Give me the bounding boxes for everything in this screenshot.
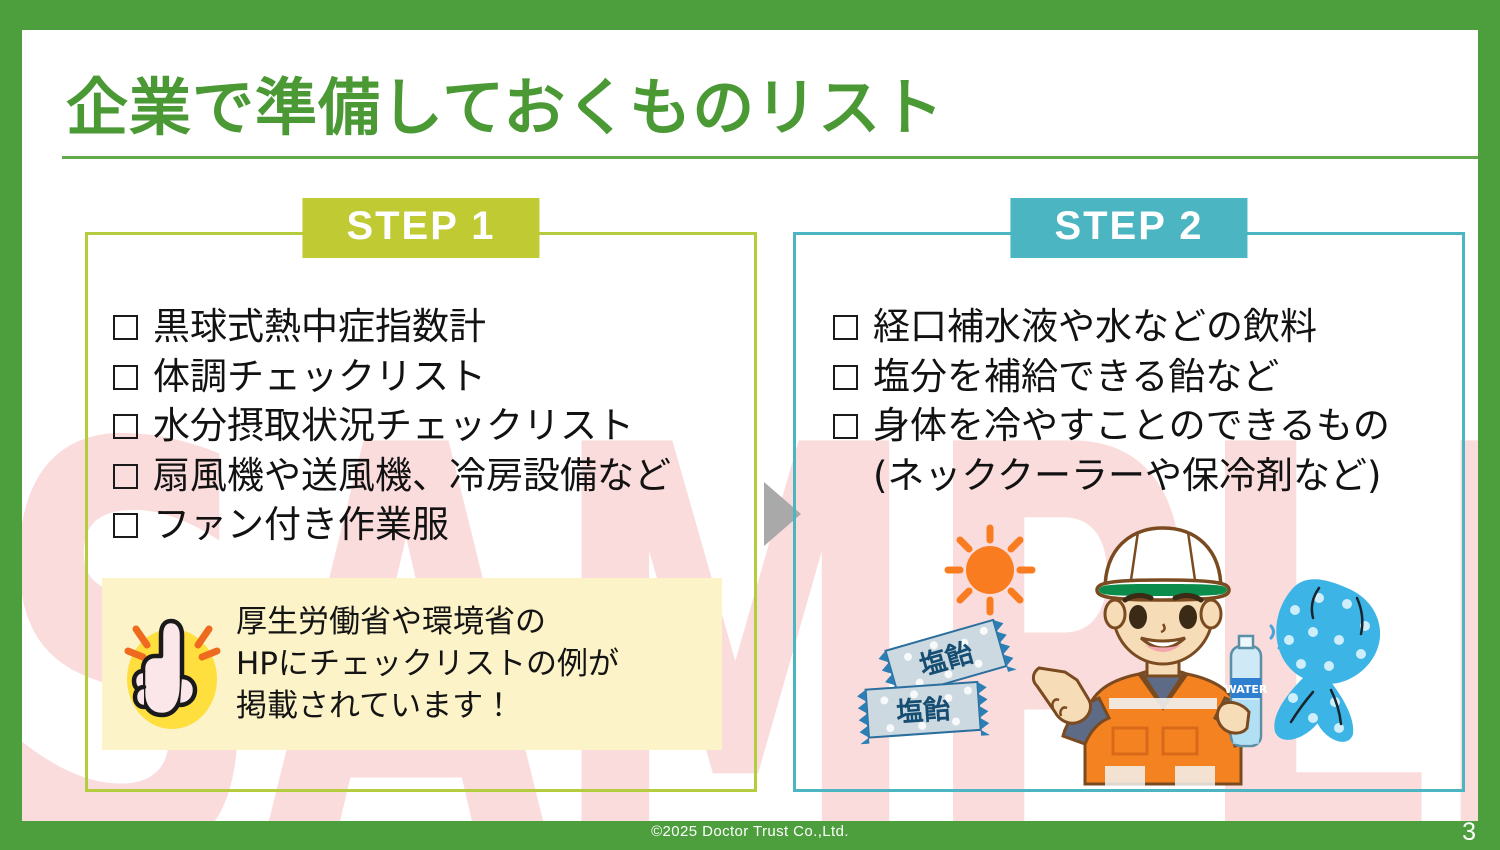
worker-illustration: WATER <box>1033 528 1281 786</box>
list-item[interactable]: 経口補水液や水などの飲料 <box>833 304 1455 351</box>
page-number: 3 <box>1462 818 1476 847</box>
checkbox-icon[interactable] <box>113 414 138 439</box>
slide-root: SAMPLE 企業で準備しておくものリスト STEP 1 黒球式熱中症指数計 体… <box>0 0 1500 850</box>
list-item-label: 黒球式熱中症指数計 <box>153 304 486 351</box>
list-item-label: 水分摂取状況チェックリスト <box>153 403 634 450</box>
list-item[interactable]: 身体を冷やすことのできるもの <box>833 403 1455 450</box>
salt-candy-icon: 塩飴 塩 <box>857 617 1017 744</box>
pointing-hand-icon <box>116 589 228 739</box>
step2-badge: STEP 2 <box>1010 198 1247 258</box>
list-item[interactable]: 塩分を補給できる飴など <box>833 354 1455 401</box>
list-item-label: 経口補水液や水などの飲料 <box>873 304 1317 351</box>
step2-illustration: 塩飴 塩 <box>853 522 1453 792</box>
step2-panel: STEP 2 経口補水液や水などの飲料 塩分を補給できる飴など 身体を冷やすこと… <box>793 232 1465 792</box>
step2-checklist: 経口補水液や水などの飲料 塩分を補給できる飴など 身体を冷やすことのできるもの … <box>833 304 1455 499</box>
checkbox-icon[interactable] <box>113 315 138 340</box>
checkbox-icon[interactable] <box>113 464 138 489</box>
list-item-label: 体調チェックリスト <box>153 354 486 401</box>
checkbox-icon[interactable] <box>833 414 858 439</box>
slide-content-area: SAMPLE 企業で準備しておくものリスト STEP 1 黒球式熱中症指数計 体… <box>22 30 1478 821</box>
step1-panel: STEP 1 黒球式熱中症指数計 体調チェックリスト 水分摂取状況チェックリスト… <box>85 232 757 792</box>
list-item-label: 塩分を補給できる飴など <box>873 354 1279 401</box>
svg-text:WATER: WATER <box>1225 683 1268 696</box>
step1-checklist: 黒球式熱中症指数計 体調チェックリスト 水分摂取状況チェックリスト 扇風機や送風… <box>113 304 747 552</box>
list-item-subnote: (ネッククーラーや保冷剤など) <box>873 453 1455 500</box>
checkbox-icon[interactable] <box>833 365 858 390</box>
svg-text:塩飴: 塩飴 <box>895 693 951 729</box>
list-item[interactable]: 黒球式熱中症指数計 <box>113 304 747 351</box>
footer-copyright: ©2025 Doctor Trust Co.,Ltd. <box>0 823 1500 840</box>
list-item-label: 扇風機や送風機、冷房設備など <box>153 453 671 500</box>
sun-icon <box>948 528 1032 612</box>
checkbox-icon[interactable] <box>113 513 138 538</box>
page-title: 企業で準備しておくものリスト <box>66 78 944 140</box>
tip-callout: 厚生労働省や環境省の HPにチェックリストの例が 掲載されています！ <box>102 578 722 750</box>
list-item[interactable]: 水分摂取状況チェックリスト <box>113 403 747 450</box>
list-item-label: 身体を冷やすことのできるもの <box>873 403 1390 450</box>
tip-text: 厚生労働省や環境省の HPにチェックリストの例が 掲載されています！ <box>236 601 619 727</box>
list-item[interactable]: 体調チェックリスト <box>113 354 747 401</box>
list-item-label: ファン付き作業服 <box>153 502 449 549</box>
checkbox-icon[interactable] <box>833 315 858 340</box>
step1-badge: STEP 1 <box>302 198 539 258</box>
checkbox-icon[interactable] <box>113 365 138 390</box>
title-underline <box>62 156 1478 159</box>
neck-cooler-icon <box>1274 579 1380 742</box>
list-item[interactable]: ファン付き作業服 <box>113 502 747 549</box>
list-item[interactable]: 扇風機や送風機、冷房設備など <box>113 453 747 500</box>
